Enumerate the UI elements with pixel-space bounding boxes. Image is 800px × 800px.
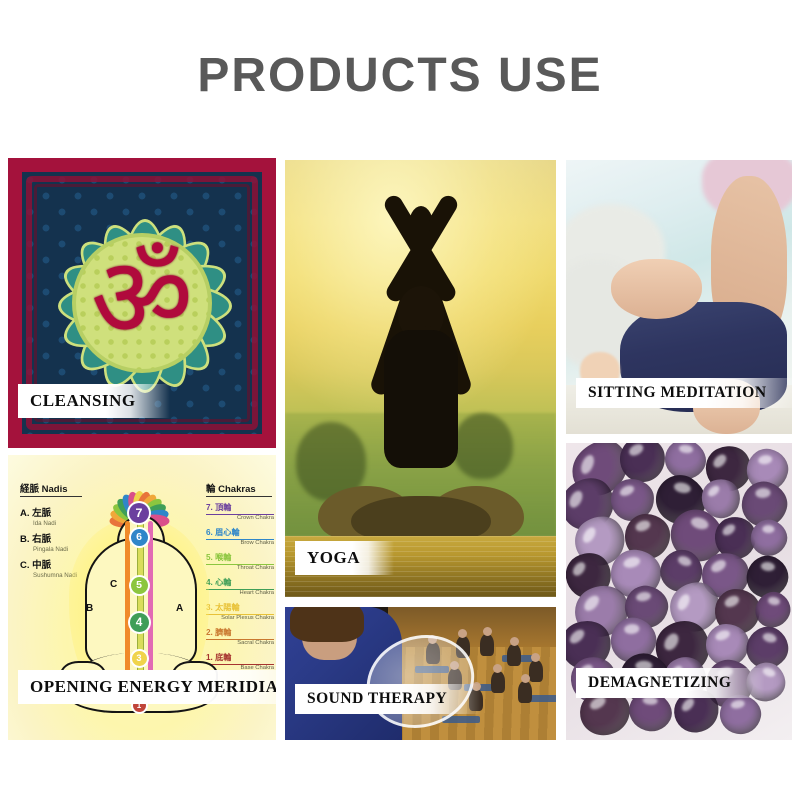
page-title: PRODUCTS USE — [0, 48, 800, 104]
nadi-label: B. 右脈 — [20, 534, 51, 545]
chakra-label: 3. 太陽輪 — [206, 601, 274, 615]
seated-participant — [518, 681, 532, 703]
chakra-point-5: 5 — [131, 577, 148, 594]
panel-demagnetizing[interactable]: DEMAGNETIZING — [566, 443, 792, 740]
caption-demagnetizing: DEMAGNETIZING — [576, 668, 765, 698]
seated-participant — [529, 660, 543, 682]
caption-cleansing: CLEANSING — [18, 384, 170, 418]
silhouette-torso — [384, 330, 458, 468]
chakra-name-en: Solar Plexus Chakra — [206, 615, 274, 621]
caption-sitting-meditation: SITTING MEDITATION — [576, 378, 792, 408]
om-disc: ॐ — [76, 237, 208, 369]
chakra-label: 7. 頂輪 — [206, 501, 274, 515]
chakra-name-en: Heart Chakra — [206, 590, 274, 596]
caption-sound-therapy: SOUND THERAPY — [295, 684, 481, 714]
chakra-row: 5. 喉輪Throat Chakra — [206, 551, 274, 571]
chakra-name-en: Throat Chakra — [206, 565, 274, 571]
chakra-label: 6. 眉心輪 — [206, 526, 274, 540]
chakra-point-7: 7 — [129, 503, 149, 523]
nadi-label: A. 左脈 — [20, 508, 51, 519]
seated-participant — [491, 671, 505, 693]
chakra-name-en: Crown Chakra — [206, 515, 274, 521]
chakra-row: 4. 心輪Heart Chakra — [206, 576, 274, 596]
nadi-name-en: Pingala Nadi — [33, 546, 68, 553]
chakra-name-en: Brow Chakra — [206, 540, 274, 546]
yoga-silhouette — [326, 198, 516, 538]
chakra-label: 4. 心輪 — [206, 576, 274, 590]
nadi-name-en: Ida Nadi — [33, 520, 56, 527]
chakra-point-6: 6 — [131, 529, 148, 546]
nadi-row: B. 右脈Pingala Nadi — [20, 529, 68, 553]
panel-opening-energy-meridians[interactable]: 経脈 Nadis A. 左脈Ida NadiB. 右脈Pingala NadiC… — [8, 455, 276, 740]
seated-participant — [480, 634, 494, 656]
nadi-row: A. 左脈Ida Nadi — [20, 503, 56, 527]
chakra-row: 6. 眉心輪Brow Chakra — [206, 526, 274, 546]
chakra-row: 3. 太陽輪Solar Plexus Chakra — [206, 601, 274, 621]
chakra-label: 2. 臍輪 — [206, 626, 274, 640]
om-symbol-icon: ॐ — [91, 243, 193, 355]
caption-yoga: YOGA — [295, 541, 394, 575]
marker-b-label: B — [86, 603, 93, 614]
chakra-point-4: 4 — [130, 613, 149, 632]
seated-participant — [507, 644, 521, 666]
chakras-heading: 輪 Chakras — [206, 481, 272, 497]
nadi-label: C. 中脈 — [20, 560, 51, 571]
panel-sitting-meditation[interactable]: SITTING MEDITATION — [566, 160, 792, 434]
silhouette-lap — [351, 496, 491, 538]
marker-a-label: A — [176, 603, 183, 614]
chakra-row: 2. 臍輪Sacral Chakra — [206, 626, 274, 646]
caption-opening-energy-meridians: OPENING ENERGY MERIDIANS — [18, 670, 276, 704]
panel-yoga[interactable]: YOGA — [285, 160, 556, 597]
mudra-hand-icon — [611, 259, 701, 319]
chakra-name-en: Sacral Chakra — [206, 640, 274, 646]
chakra-point-3: 3 — [132, 651, 147, 666]
panel-cleansing[interactable]: ॐ CLEANSING — [8, 158, 276, 448]
panel-sound-therapy[interactable]: SOUND THERAPY — [285, 607, 556, 740]
marker-c-label: C — [110, 579, 117, 590]
practitioner-hair — [290, 607, 364, 642]
chakra-label: 5. 喉輪 — [206, 551, 274, 565]
chakra-row: 7. 頂輪Crown Chakra — [206, 501, 274, 521]
